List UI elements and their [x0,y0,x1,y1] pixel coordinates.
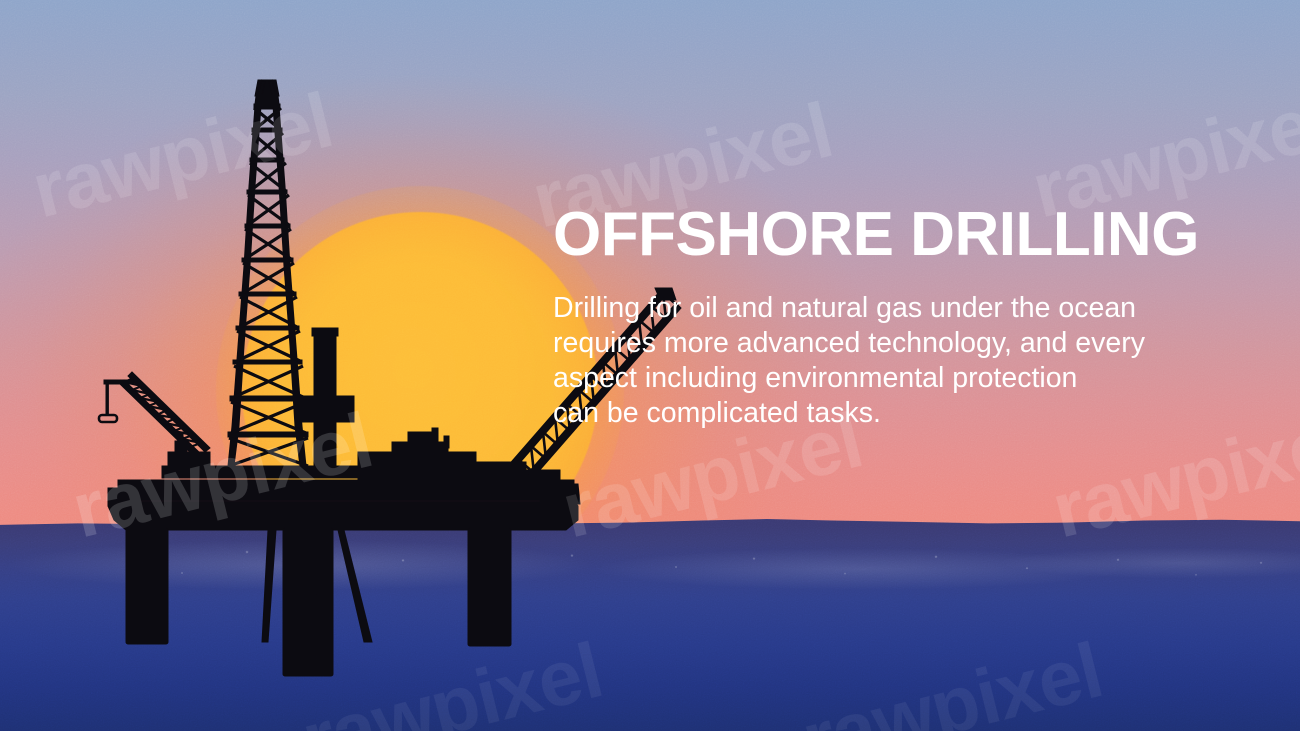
body-line: Drilling for oil and natural gas under t… [553,291,1273,326]
poster-image: rawpixel rawpixel rawpixel rawpixel rawp… [0,0,1300,731]
sun-disc [242,212,598,568]
body-line: aspect including environmental protectio… [553,361,1273,396]
body-paragraph: Drilling for oil and natural gas under t… [553,291,1273,431]
text-block: OFFSHORE DRILLING Drilling for oil and n… [553,200,1273,431]
body-line: requires more advanced technology, and e… [553,326,1273,361]
page-title: OFFSHORE DRILLING [553,200,1273,270]
body-line: can be complicated tasks. [553,396,1273,431]
